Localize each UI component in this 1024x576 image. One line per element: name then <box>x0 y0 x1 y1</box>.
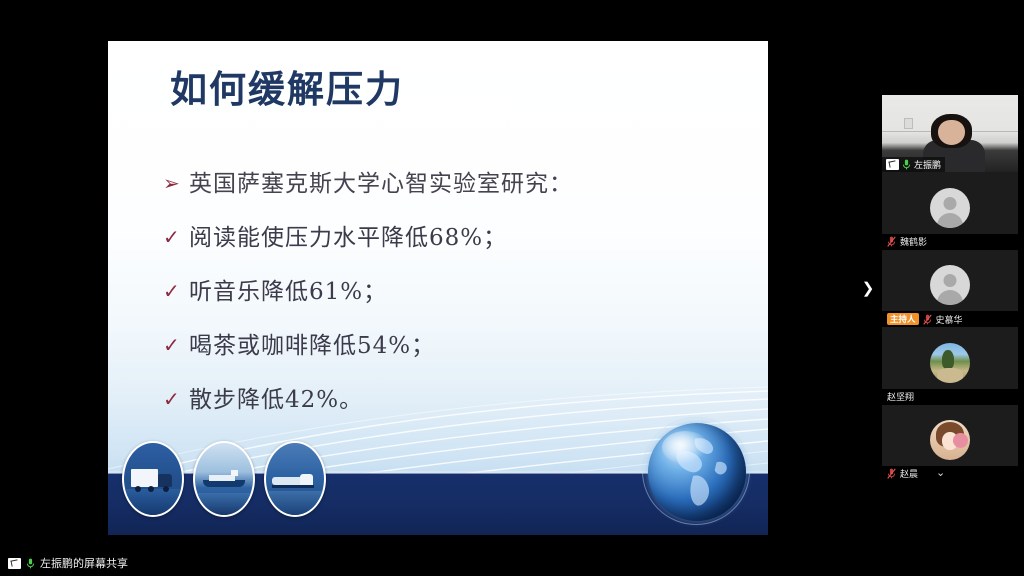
bullet-marker-arrow: ➢ <box>163 169 189 199</box>
default-avatar <box>930 265 970 305</box>
slide-title: 如何缓解压力 <box>170 59 404 113</box>
screen-share-status-bar: 左振鹏的屏幕共享 <box>0 550 1024 576</box>
bullet-item: ✓ 阅读能使压力水平降低68%； <box>163 223 723 253</box>
thumbnail-truck <box>122 441 184 517</box>
microphone-muted-icon <box>887 236 896 247</box>
shared-slide[interactable]: 如何缓解压力 ➢ 英国萨塞克斯大学心智实验室研究： ✓ 阅读能使压力水平降低68… <box>108 41 768 535</box>
meeting-screen-share-view: 如何缓解压力 ➢ 英国萨塞克斯大学心智实验室研究： ✓ 阅读能使压力水平降低68… <box>0 0 1024 576</box>
participant-tile[interactable]: 赵坚翔 <box>882 327 1018 404</box>
microphone-icon <box>26 558 35 569</box>
participant-tile[interactable]: 魏鹤影 <box>882 172 1018 249</box>
globe-graphic <box>648 423 746 521</box>
participant-video-panel[interactable]: 左振鹏 魏鹤影 <box>882 95 1018 482</box>
transport-thumbnails <box>122 441 326 517</box>
bullet-marker-check: ✓ <box>163 331 189 361</box>
bullet-text: 听音乐降低61%； <box>189 277 387 307</box>
participant-name: 魏鹤影 <box>900 235 927 248</box>
participant-name-bar: 魏鹤影 <box>882 234 1018 250</box>
thumbnail-ship <box>193 441 255 517</box>
train-icon <box>272 473 318 488</box>
chevron-down-icon[interactable]: ⌄ <box>936 468 945 479</box>
profile-photo-avatar <box>930 343 970 383</box>
bullet-marker-check: ✓ <box>163 223 189 253</box>
participant-name: 左振鹏 <box>914 158 941 171</box>
ship-icon <box>201 473 247 489</box>
default-avatar <box>930 188 970 228</box>
bullet-text: 英国萨塞克斯大学心智实验室研究： <box>189 169 573 199</box>
truck-icon <box>131 469 173 489</box>
participant-name-bar: 赵晨 ⌄ <box>882 466 1018 482</box>
slide-footer-decoration <box>108 385 768 535</box>
participant-name: 赵坚翔 <box>887 390 914 403</box>
bullet-marker-check: ✓ <box>163 277 189 307</box>
thumbnail-train <box>264 441 326 517</box>
screen-share-icon <box>886 159 899 170</box>
bullet-item: ✓ 喝茶或咖啡降低54%； <box>163 331 723 361</box>
profile-photo-avatar <box>930 420 970 460</box>
host-badge: 主持人 <box>887 313 919 325</box>
participant-tile[interactable]: 赵晨 ⌄ <box>882 405 1018 482</box>
participant-name: 赵晨 <box>900 467 918 480</box>
participant-name-bar: 主持人 史慕华 <box>882 311 1018 327</box>
share-status-label: 左振鹏的屏幕共享 <box>40 555 128 571</box>
bullet-text: 阅读能使压力水平降低68%； <box>189 223 507 253</box>
participant-tile[interactable]: 左振鹏 <box>882 95 1018 172</box>
bullet-item: ➢ 英国萨塞克斯大学心智实验室研究： <box>163 169 723 199</box>
microphone-muted-icon <box>923 314 932 325</box>
participant-name: 史慕华 <box>936 313 963 326</box>
screen-share-icon <box>8 558 21 569</box>
globe-highlight <box>662 431 709 464</box>
participant-tile[interactable]: 主持人 史慕华 <box>882 250 1018 327</box>
participant-name-bar: 左振鹏 <box>882 157 945 172</box>
bullet-text: 喝茶或咖啡降低54%； <box>189 331 435 361</box>
bullet-item: ✓ 听音乐降低61%； <box>163 277 723 307</box>
participant-name-bar: 赵坚翔 <box>882 389 1018 405</box>
collapse-panel-button[interactable]: ❯ <box>860 278 876 298</box>
microphone-icon <box>902 159 911 170</box>
chevron-right-icon: ❯ <box>862 279 875 297</box>
microphone-muted-icon <box>887 468 896 479</box>
